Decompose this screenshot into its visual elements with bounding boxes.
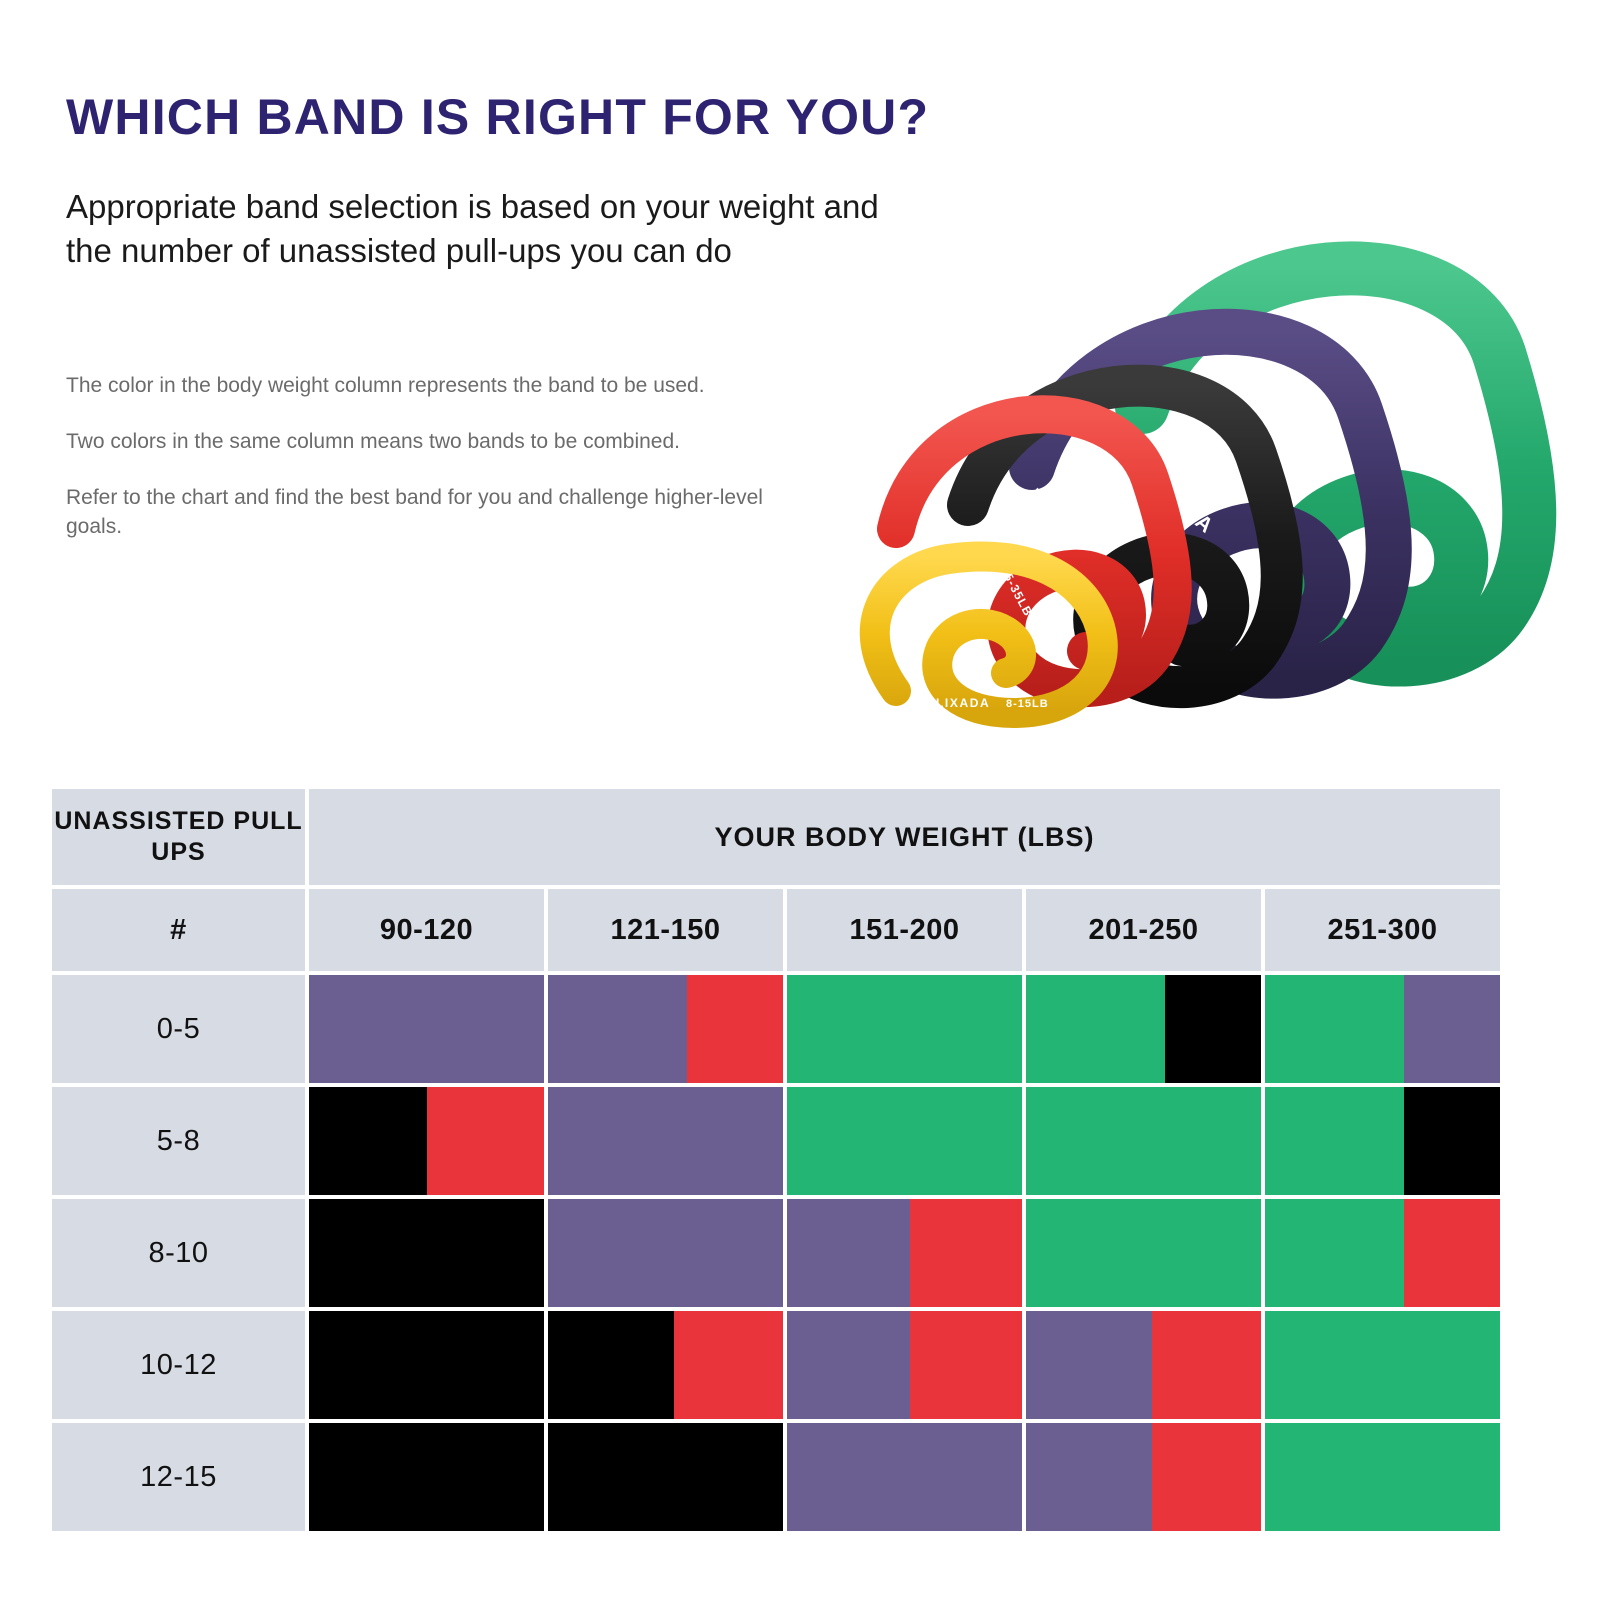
band-swatch-red <box>427 1087 545 1195</box>
green-band-brand: LIXADA <box>1390 355 1485 441</box>
row-label-10-12: 10-12 <box>52 1311 305 1419</box>
band-swatch-red <box>1404 1199 1500 1307</box>
band-swatch-black <box>548 1423 783 1531</box>
yellow-band-shape: LIXADA 8-15LB <box>875 556 1103 713</box>
band-cell-r1-c1 <box>548 1087 783 1195</box>
band-swatch-red <box>1152 1311 1261 1419</box>
band-swatch-red <box>687 975 783 1083</box>
band-cell-r4-c3 <box>1026 1423 1261 1531</box>
band-cell-r4-c4 <box>1265 1423 1500 1531</box>
band-cell-r0-c4 <box>1265 975 1500 1083</box>
band-cell-r4-c0 <box>309 1423 544 1531</box>
band-swatch-purple <box>787 1423 1022 1531</box>
chart-head: UNASSISTED PULL UPS YOUR BODY WEIGHT (LB… <box>52 789 1500 971</box>
band-cell-r0-c0 <box>309 975 544 1083</box>
band-swatch-black <box>1404 1087 1500 1195</box>
table-row: 12-15 <box>52 1423 1500 1531</box>
band-cell-r2-c4 <box>1265 1199 1500 1307</box>
column-header-121-150: 121-150 <box>548 889 783 971</box>
band-swatch-purple <box>548 975 687 1083</box>
row-header-symbol: # <box>52 889 305 971</box>
chart-head-row-2: # 90-120 121-150 151-200 201-250 251-300 <box>52 889 1500 971</box>
band-cell-r3-c1 <box>548 1311 783 1419</box>
band-cell-r2-c3 <box>1026 1199 1261 1307</box>
band-swatch-red <box>1152 1423 1261 1531</box>
column-header-151-200: 151-200 <box>787 889 1022 971</box>
band-cell-r4-c1 <box>548 1423 783 1531</box>
band-swatch-purple <box>548 1199 783 1307</box>
band-cell-r0-c2 <box>787 975 1022 1083</box>
band-swatch-black <box>309 1087 427 1195</box>
band-swatch-purple <box>787 1199 910 1307</box>
band-cell-r1-c3 <box>1026 1087 1261 1195</box>
table-row: 0-5 <box>52 975 1500 1083</box>
note-item: The color in the body weight column repr… <box>66 372 786 401</box>
band-cell-r3-c4 <box>1265 1311 1500 1419</box>
band-swatch-green <box>1026 1199 1261 1307</box>
band-cell-r1-c4 <box>1265 1087 1500 1195</box>
band-cell-r3-c2 <box>787 1311 1022 1419</box>
notes-list: The color in the body weight column repr… <box>66 372 786 569</box>
chart-table: UNASSISTED PULL UPS YOUR BODY WEIGHT (LB… <box>48 785 1504 1535</box>
band-cell-r3-c0 <box>309 1311 544 1419</box>
band-swatch-green <box>1265 1311 1500 1419</box>
intro-section: WHICH BAND IS RIGHT FOR YOU? Appropriate… <box>0 0 1600 780</box>
chart-head-row-1: UNASSISTED PULL UPS YOUR BODY WEIGHT (LB… <box>52 789 1500 885</box>
band-swatch-purple <box>1404 975 1500 1083</box>
band-cell-r2-c0 <box>309 1199 544 1307</box>
chart-title: YOUR BODY WEIGHT (LBS) <box>309 789 1500 885</box>
band-cell-r0-c1 <box>548 975 783 1083</box>
band-swatch-green <box>1026 1087 1261 1195</box>
band-cell-r4-c2 <box>787 1423 1022 1531</box>
band-swatch-purple <box>309 975 544 1083</box>
band-swatch-green <box>1265 1423 1500 1531</box>
table-row: 5-8 <box>52 1087 1500 1195</box>
band-swatch-purple <box>787 1311 910 1419</box>
row-label-8-10: 8-10 <box>52 1199 305 1307</box>
intro-subtitle: Appropriate band selection is based on y… <box>66 185 896 273</box>
band-cell-r0-c3 <box>1026 975 1261 1083</box>
band-swatch-green <box>1265 1087 1404 1195</box>
table-row: 10-12 <box>52 1311 1500 1419</box>
band-cell-r2-c2 <box>787 1199 1022 1307</box>
band-swatch-green <box>1265 975 1404 1083</box>
row-label-0-5: 0-5 <box>52 975 305 1083</box>
band-cell-r2-c1 <box>548 1199 783 1307</box>
band-swatch-black <box>548 1311 674 1419</box>
band-swatch-green <box>787 1087 1022 1195</box>
page-title: WHICH BAND IS RIGHT FOR YOU? <box>66 88 929 146</box>
row-header-title: UNASSISTED PULL UPS <box>52 789 305 885</box>
band-swatch-green <box>787 975 1022 1083</box>
column-header-90-120: 90-120 <box>309 889 544 971</box>
resistance-bands-photo: LIXADA 50-125LB LIXADA 35-85LB LIXADA 25… <box>800 175 1560 755</box>
table-row: 8-10 <box>52 1199 1500 1307</box>
chart-body: 0-55-88-1010-1212-15 <box>52 975 1500 1531</box>
row-label-5-8: 5-8 <box>52 1087 305 1195</box>
band-swatch-black <box>309 1311 544 1419</box>
band-swatch-red <box>910 1311 1022 1419</box>
note-item: Refer to the chart and find the best ban… <box>66 484 786 542</box>
band-swatch-purple <box>1026 1311 1152 1419</box>
yellow-band-label: 8-15LB <box>1006 698 1049 710</box>
row-label-12-15: 12-15 <box>52 1423 305 1531</box>
red-band-brand: LIXADA <box>1025 485 1102 554</box>
band-swatch-red <box>910 1199 1022 1307</box>
band-swatch-green <box>1026 975 1165 1083</box>
band-selection-chart: UNASSISTED PULL UPS YOUR BODY WEIGHT (LB… <box>48 785 1478 1535</box>
note-item: Two colors in the same column means two … <box>66 428 786 457</box>
band-cell-r1-c0 <box>309 1087 544 1195</box>
band-swatch-purple <box>1026 1423 1152 1531</box>
band-swatch-red <box>674 1311 783 1419</box>
band-cell-r1-c2 <box>787 1087 1022 1195</box>
band-swatch-black <box>309 1199 544 1307</box>
band-swatch-black <box>1165 975 1261 1083</box>
band-cell-r3-c3 <box>1026 1311 1261 1419</box>
band-swatch-purple <box>548 1087 783 1195</box>
band-swatch-green <box>1265 1199 1404 1307</box>
column-header-201-250: 201-250 <box>1026 889 1261 971</box>
yellow-band-brand: LIXADA <box>936 696 990 710</box>
band-swatch-black <box>309 1423 544 1531</box>
column-header-251-300: 251-300 <box>1265 889 1500 971</box>
